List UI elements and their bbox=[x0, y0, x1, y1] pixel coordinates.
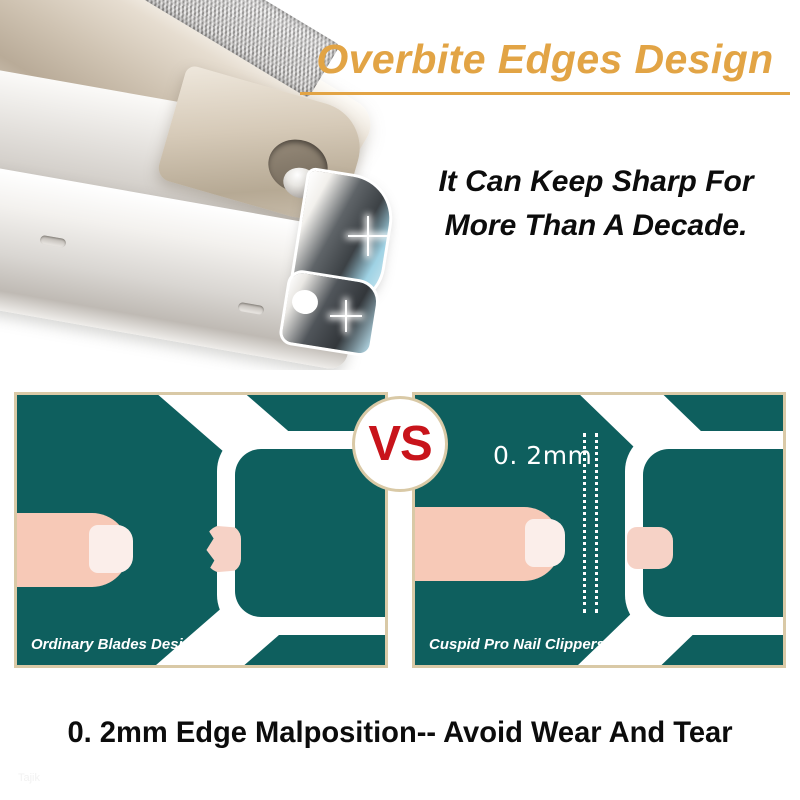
measurement-guide-line-right bbox=[595, 433, 598, 613]
page-title: Overbite Edges Design bbox=[300, 38, 790, 81]
watermark: Tajik bbox=[18, 772, 40, 784]
panel-caption-left: Ordinary Blades Design bbox=[31, 636, 201, 653]
measurement-label: 0. 2mm bbox=[493, 441, 592, 470]
subtitle-line-1: It Can Keep Sharp For bbox=[396, 160, 796, 204]
nail-clipping-fragment bbox=[627, 527, 673, 569]
comparison-panel-ordinary: Ordinary Blades Design bbox=[14, 392, 388, 668]
fingernail bbox=[525, 519, 565, 567]
subtitle: It Can Keep Sharp For More Than A Decade… bbox=[396, 160, 796, 249]
nail-clipping-fragment bbox=[205, 525, 241, 573]
vs-badge: VS bbox=[352, 396, 448, 492]
panel-caption-right: Cuspid Pro Nail Clippers bbox=[429, 636, 605, 653]
clipper-lower-jaw-edge bbox=[281, 272, 379, 355]
bottom-caption: 0. 2mm Edge Malposition-- Avoid Wear And… bbox=[12, 716, 788, 750]
comparison-panel-cuspid-pro: 0. 2mm Cuspid Pro Nail Clippers bbox=[412, 392, 786, 668]
product-infographic: Overbite Edges Design It Can Keep Sharp … bbox=[0, 0, 800, 800]
title-underline bbox=[300, 92, 790, 95]
fingernail bbox=[89, 525, 133, 573]
subtitle-line-2: More Than A Decade. bbox=[396, 204, 796, 248]
vs-badge-label: VS bbox=[368, 420, 431, 469]
